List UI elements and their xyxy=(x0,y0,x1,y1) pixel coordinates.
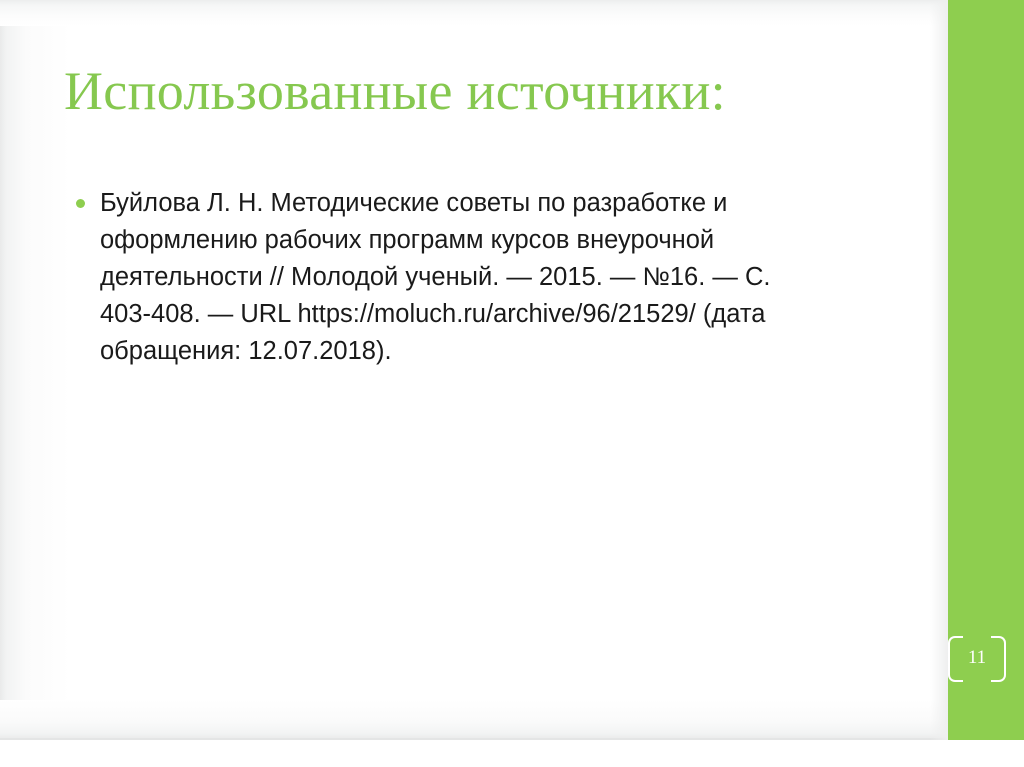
reference-text: Буйлова Л. Н. Методические советы по раз… xyxy=(100,185,886,370)
page-number-badge: 11 xyxy=(946,634,1008,682)
reference-line: обращения: 12.07.2018). xyxy=(100,333,886,370)
list-item: Буйлова Л. Н. Методические советы по раз… xyxy=(66,185,886,370)
page-title: Использованные источники: xyxy=(64,60,924,122)
references-list: Буйлова Л. Н. Методические советы по раз… xyxy=(66,185,886,370)
presentation-slide: Использованные источники: Буйлова Л. Н. … xyxy=(0,0,1024,767)
right-accent-band xyxy=(948,0,1024,740)
reference-line: Буйлова Л. Н. Методические советы по раз… xyxy=(100,185,886,222)
reference-line: оформлению рабочих программ курсов внеур… xyxy=(100,222,886,259)
page-number: 11 xyxy=(946,634,1008,682)
slide-bottom-divider xyxy=(0,738,1024,740)
reference-line: деятельности // Молодой ученый. — 2015. … xyxy=(100,259,886,296)
reference-line: 403-408. — URL https://moluch.ru/archive… xyxy=(100,296,886,333)
bullet-dot-icon xyxy=(76,199,85,208)
